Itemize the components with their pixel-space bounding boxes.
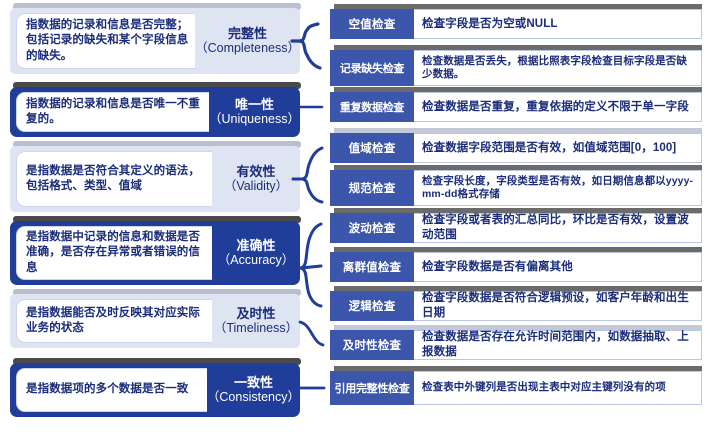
dimension-description: 是指数据项的多个数据是否一致: [16, 368, 207, 412]
check-row[interactable]: 规范检查检查字段长度，字段类型是否有效，如日期信息都以yyyy-mm-dd格式存…: [330, 170, 702, 206]
dimension-row[interactable]: 是指数据项的多个数据是否一致一致性（Consistency）: [10, 363, 300, 417]
dimension-title: 完整性（Completeness）: [195, 8, 300, 74]
check-name: 值域检查: [330, 133, 414, 163]
diagram-canvas: 指数据的记录和信息是否完整；包括记录的缺失和某个字段信息的缺失。完整性（Comp…: [0, 0, 710, 432]
check-row[interactable]: 空值检查检查字段是否为空或NULL: [330, 9, 702, 39]
check-row[interactable]: 逻辑检查检查字段数据是否符合逻辑预设，如客户年龄和出生日期: [330, 291, 702, 321]
dimension-plate: 指数据的记录和信息是否唯一不重复的。唯一性（Uniqueness）: [10, 87, 300, 137]
check-row[interactable]: 值域检查检查数据字段范围是否有效，如值域范围[0，100]: [330, 133, 702, 163]
dimension-name-cn: 及时性: [236, 306, 275, 321]
dimension-name-cn: 一致性: [234, 375, 273, 390]
dimension-title: 一致性（Consistency）: [207, 363, 300, 417]
dimension-plate: 是指数据项的多个数据是否一致一致性（Consistency）: [10, 363, 300, 417]
dimension-name-en: （Consistency）: [207, 390, 300, 405]
check-row[interactable]: 引用完整性检查检查表中外键列是否出现主表中对应主键列没有的项: [330, 371, 702, 405]
check-name: 引用完整性检查: [330, 371, 414, 405]
dimension-title: 有效性（Validity）: [212, 146, 300, 212]
check-description: 检查字段是否为空或NULL: [414, 9, 702, 39]
dimension-row[interactable]: 是指数据是否符合其定义的语法，包括格式、类型、值域有效性（Validity）: [10, 146, 300, 212]
dimension-description: 是指数据能否及时反映其对应实际业务的状态: [16, 299, 212, 343]
check-row-body: 空值检查检查字段是否为空或NULL: [330, 9, 702, 39]
dimension-title: 准确性（Accuracy）: [212, 221, 300, 285]
check-description: 检查数据字段范围是否有效，如值域范围[0，100]: [414, 133, 702, 163]
check-description: 检查字段数据是否符合逻辑预设，如客户年龄和出生日期: [414, 291, 702, 321]
dimension-description: 是指数据是否符合其定义的语法，包括格式、类型、值域: [16, 151, 212, 207]
dimension-name-en: （Uniqueness）: [209, 112, 300, 127]
dimension-name-en: （Validity）: [224, 179, 288, 194]
dimension-row[interactable]: 指数据的记录和信息是否唯一不重复的。唯一性（Uniqueness）: [10, 87, 300, 137]
check-row-body: 记录缺失检查检查数据是否丢失，根据比照表字段检查目标字段是否缺少数据。: [330, 50, 702, 86]
dimension-description: 是指数据中记录的信息和数据是否准确，是否存在异常或者错误的信息: [16, 226, 212, 280]
dimension-plate: 是指数据中记录的信息和数据是否准确，是否存在异常或者错误的信息准确性（Accur…: [10, 221, 300, 285]
check-row-body: 逻辑检查检查字段数据是否符合逻辑预设，如客户年龄和出生日期: [330, 291, 702, 321]
check-row-body: 值域检查检查数据字段范围是否有效，如值域范围[0，100]: [330, 133, 702, 163]
check-row[interactable]: 离群值检查检查字段数据是否有偏离其他: [330, 252, 702, 282]
dimension-title: 及时性（Timeliness）: [212, 294, 300, 348]
check-name: 记录缺失检查: [330, 50, 414, 86]
check-description: 检查字段数据是否有偏离其他: [414, 252, 702, 282]
dimension-name-cn: 有效性: [236, 164, 275, 179]
check-row-body: 重复数据检查检查数据是否重复，重复依据的定义不限于单一字段: [330, 92, 702, 122]
check-row[interactable]: 记录缺失检查检查数据是否丢失，根据比照表字段检查目标字段是否缺少数据。: [330, 50, 702, 86]
dimension-row[interactable]: 是指数据中记录的信息和数据是否准确，是否存在异常或者错误的信息准确性（Accur…: [10, 221, 300, 285]
check-name: 波动检查: [330, 213, 414, 243]
check-description: 检查字段长度，字段类型是否有效，如日期信息都以yyyy-mm-dd格式存储: [414, 170, 702, 206]
check-name: 重复数据检查: [330, 92, 414, 122]
check-description: 检查数据是否丢失，根据比照表字段检查目标字段是否缺少数据。: [414, 50, 702, 86]
dimension-name-en: （Accuracy）: [218, 253, 294, 268]
check-description: 检查字段或者表的汇总同比，环比是否有效，设置波动范围: [414, 213, 702, 243]
dimension-name-en: （Timeliness）: [214, 321, 298, 336]
dimension-name-cn: 准确性: [236, 238, 275, 253]
dimension-name-cn: 完整性: [228, 26, 267, 41]
dimension-plate: 是指数据是否符合其定义的语法，包括格式、类型、值域有效性（Validity）: [10, 146, 300, 212]
check-name: 规范检查: [330, 170, 414, 206]
dimension-plate: 指数据的记录和信息是否完整；包括记录的缺失和某个字段信息的缺失。完整性（Comp…: [10, 8, 300, 74]
dimension-description: 指数据的记录和信息是否完整；包括记录的缺失和某个字段信息的缺失。: [16, 13, 195, 69]
dimension-name-en: （Completeness）: [195, 41, 300, 56]
check-description: 检查数据是否存在允许时间范围内，如数据抽取、上报数据: [414, 330, 702, 360]
check-row-body: 引用完整性检查检查表中外键列是否出现主表中对应主键列没有的项: [330, 371, 702, 405]
check-name: 逻辑检查: [330, 291, 414, 321]
check-row[interactable]: 重复数据检查检查数据是否重复，重复依据的定义不限于单一字段: [330, 92, 702, 122]
dimension-row[interactable]: 是指数据能否及时反映其对应实际业务的状态及时性（Timeliness）: [10, 294, 300, 348]
check-description: 检查数据是否重复，重复依据的定义不限于单一字段: [414, 92, 702, 122]
check-description: 检查表中外键列是否出现主表中对应主键列没有的项: [414, 371, 702, 405]
check-name: 及时性检查: [330, 330, 414, 360]
dimension-name-cn: 唯一性: [235, 97, 274, 112]
check-row-body: 规范检查检查字段长度，字段类型是否有效，如日期信息都以yyyy-mm-dd格式存…: [330, 170, 702, 206]
check-row-body: 离群值检查检查字段数据是否有偏离其他: [330, 252, 702, 282]
check-row-body: 波动检查检查字段或者表的汇总同比，环比是否有效，设置波动范围: [330, 213, 702, 243]
check-row-body: 及时性检查检查数据是否存在允许时间范围内，如数据抽取、上报数据: [330, 330, 702, 360]
dimension-row[interactable]: 指数据的记录和信息是否完整；包括记录的缺失和某个字段信息的缺失。完整性（Comp…: [10, 8, 300, 74]
check-name: 空值检查: [330, 9, 414, 39]
check-row[interactable]: 及时性检查检查数据是否存在允许时间范围内，如数据抽取、上报数据: [330, 330, 702, 360]
dimension-plate: 是指数据能否及时反映其对应实际业务的状态及时性（Timeliness）: [10, 294, 300, 348]
check-row[interactable]: 波动检查检查字段或者表的汇总同比，环比是否有效，设置波动范围: [330, 213, 702, 243]
dimension-description: 指数据的记录和信息是否唯一不重复的。: [16, 92, 209, 132]
check-name: 离群值检查: [330, 252, 414, 282]
dimension-title: 唯一性（Uniqueness）: [209, 87, 300, 137]
